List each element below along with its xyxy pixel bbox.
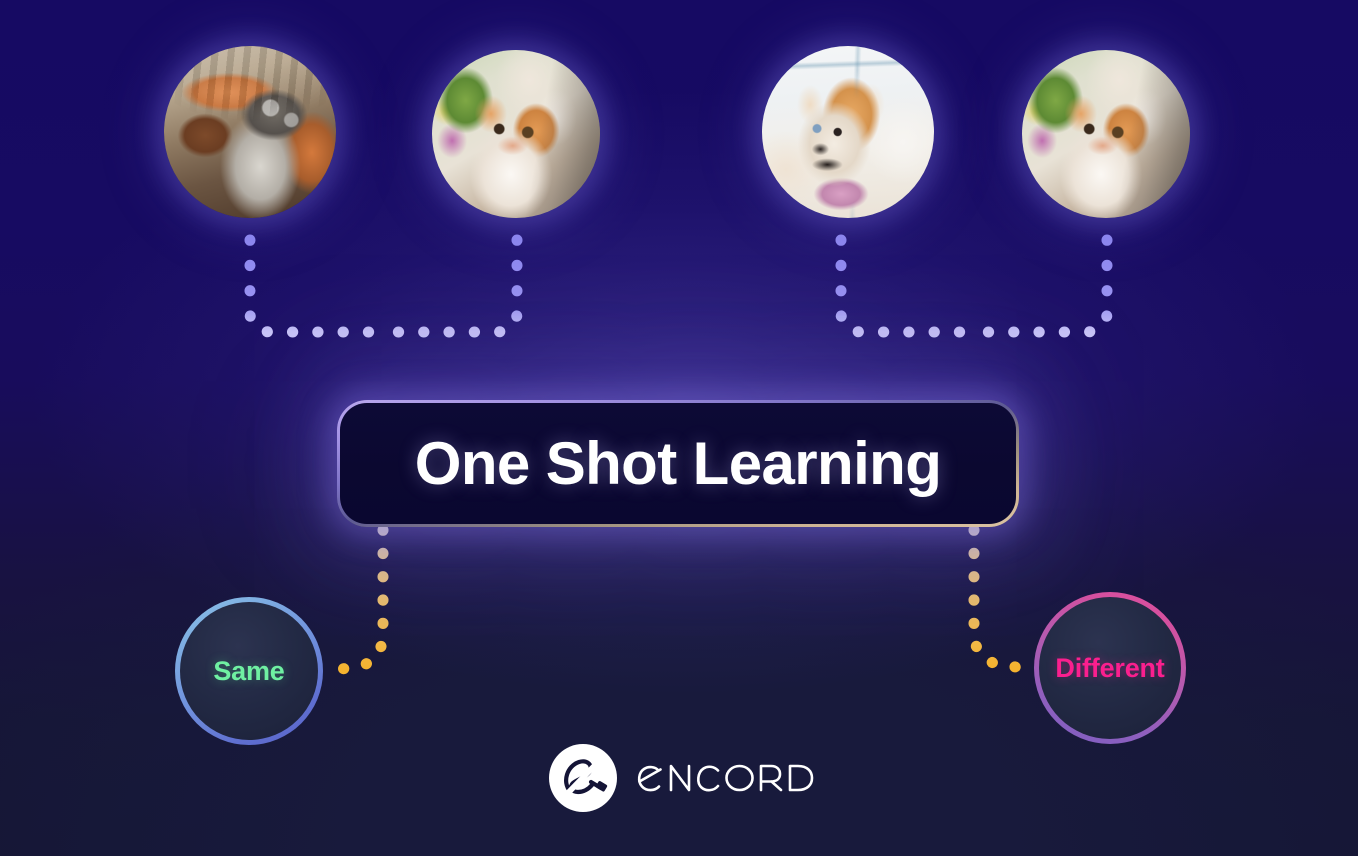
connector-sample3-to-box xyxy=(841,240,968,332)
dog-photo-icon xyxy=(762,46,934,218)
connector-box-to-same xyxy=(332,530,383,670)
one-shot-learning-box-inner: One Shot Learning xyxy=(340,403,1016,524)
one-shot-learning-graphic: One Shot Learning Same Different xyxy=(0,0,1358,856)
outcome-same: Same xyxy=(175,597,323,745)
sample-photo-1 xyxy=(164,46,336,218)
encord-e-mark-icon xyxy=(549,744,617,812)
sample-photo-4 xyxy=(1022,50,1190,218)
sample-photo-2 xyxy=(432,50,600,218)
outcome-different-inner: Different xyxy=(1039,597,1181,739)
page-title: One Shot Learning xyxy=(415,429,942,498)
encord-wordmark xyxy=(631,756,815,800)
outcome-same-label: Same xyxy=(213,656,284,687)
connector-box-to-different xyxy=(974,530,1026,668)
outcome-different-label: Different xyxy=(1055,653,1164,684)
cat-photo-icon xyxy=(164,46,336,218)
sample-photo-3 xyxy=(762,46,934,218)
cat-photo-icon xyxy=(1022,50,1190,218)
outcome-different: Different xyxy=(1034,592,1186,744)
cat-photo-icon xyxy=(432,50,600,218)
encord-mark-glyph xyxy=(554,749,612,807)
outcome-same-inner: Same xyxy=(180,602,318,740)
encord-logo xyxy=(549,744,815,812)
connector-sample2-to-box xyxy=(390,240,517,332)
connector-sample1-to-box xyxy=(250,240,378,332)
connector-sample4-to-box xyxy=(980,240,1107,332)
one-shot-learning-box: One Shot Learning xyxy=(337,400,1019,527)
